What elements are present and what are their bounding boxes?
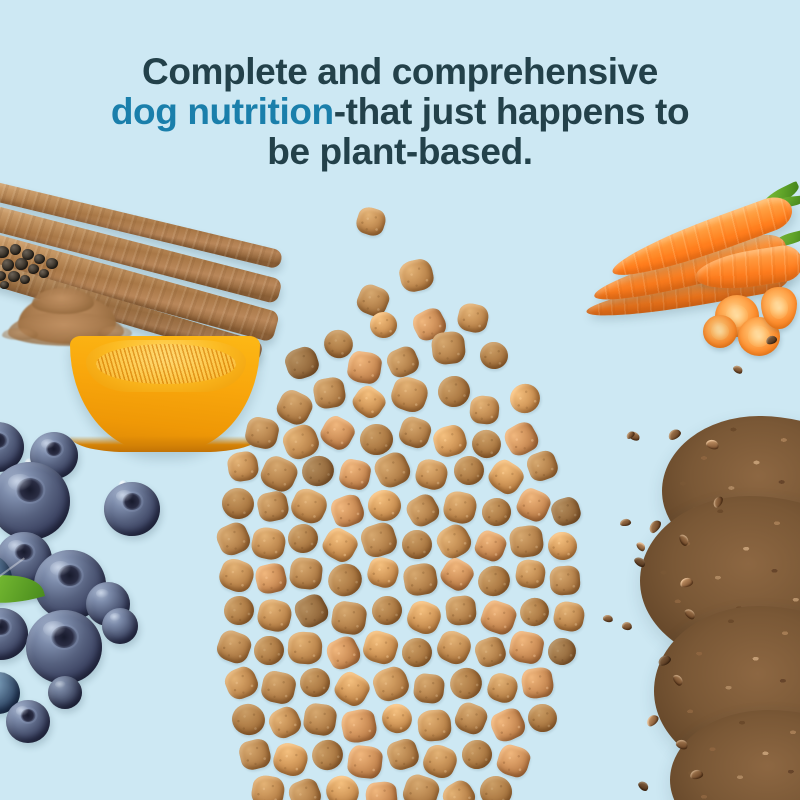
dog-kibble (354, 204, 389, 238)
flax-seed (732, 364, 744, 375)
headline-accent: dog nutrition (111, 91, 334, 132)
headline-line-3: be plant-based. (0, 132, 800, 172)
blueberry (26, 610, 102, 684)
blueberry (48, 676, 82, 709)
headline-line-1: Complete and comprehensive (0, 52, 800, 92)
blueberry (0, 608, 28, 660)
flax-seeds (620, 410, 800, 800)
blueberries (0, 414, 200, 800)
headline-line-2-rest: -that just happens to (334, 91, 689, 132)
promo-banner: Complete and comprehensive dog nutrition… (0, 0, 800, 800)
blueberry (102, 608, 138, 644)
blueberry (0, 462, 70, 540)
carrots (575, 185, 800, 360)
headline-line-2: dog nutrition-that just happens to (0, 92, 800, 132)
carrot-slice (703, 315, 737, 348)
flax-seed (602, 614, 613, 623)
dog-kibble-pile (218, 252, 590, 800)
headline: Complete and comprehensive dog nutrition… (0, 52, 800, 172)
carrot-slice (761, 287, 797, 329)
blueberry (6, 700, 50, 743)
blueberry (104, 482, 160, 536)
